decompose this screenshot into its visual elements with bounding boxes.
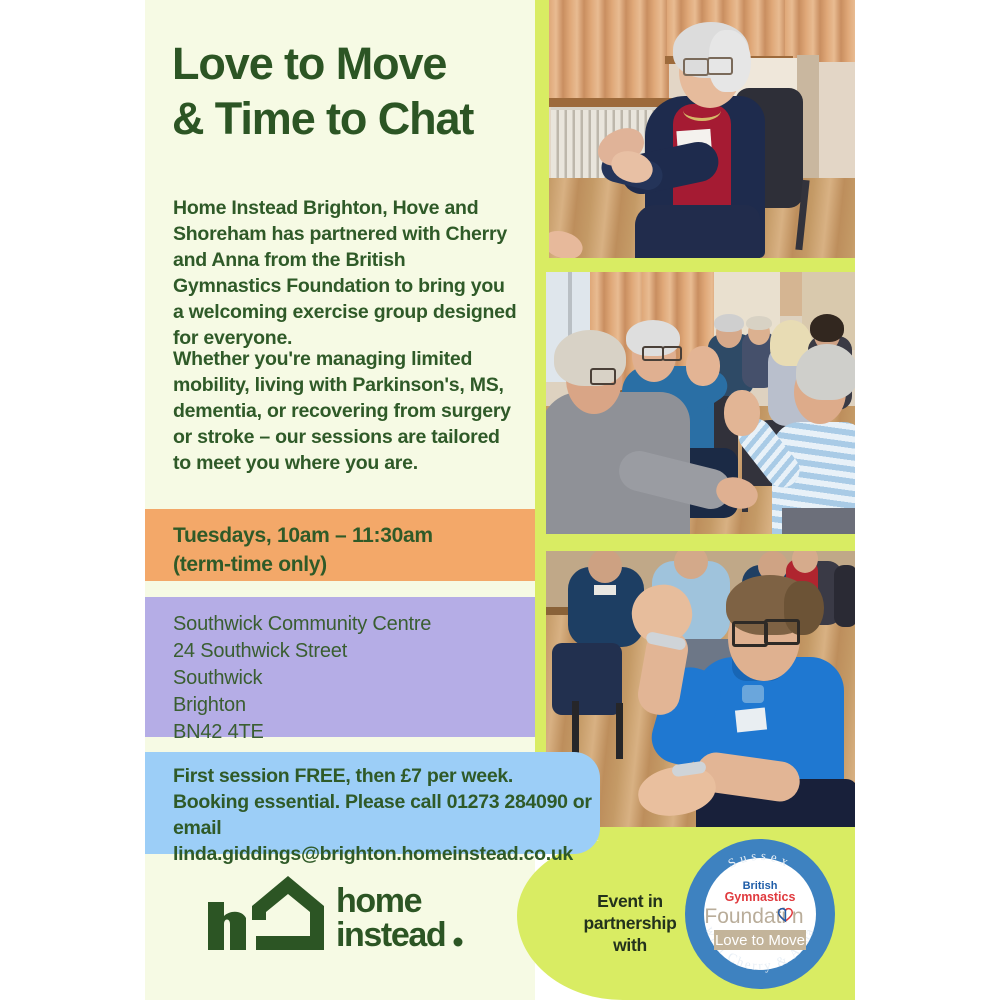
venue-street: 24 Southwick Street: [173, 640, 347, 662]
intro-paragraph: Home Instead Brighton, Hove and Shoreham…: [173, 196, 518, 352]
schedule-line-2: (term-time only): [173, 553, 327, 576]
page-title: Love to Move & Time to Chat: [172, 37, 532, 147]
white-right-margin: [855, 0, 1000, 1000]
home-instead-logo: home instead: [200, 872, 470, 954]
photo-older-woman-exercising: [549, 0, 855, 258]
title-line-2: & Time to Chat: [172, 92, 532, 147]
schedule-text: Tuesdays, 10am – 11:30am (term-time only…: [173, 522, 523, 579]
logo-word-instead: instead: [336, 916, 445, 954]
logo-word-home: home: [336, 882, 422, 920]
venue-city: Brighton: [173, 694, 246, 716]
schedule-line-1: Tuesdays, 10am – 11:30am: [173, 524, 433, 547]
booking-banner: First session FREE, then £7 per week. Bo…: [145, 752, 600, 854]
badge-brand-gymnastics: Gymnastics: [725, 890, 796, 904]
venue-address: Southwick Community Centre 24 Southwick …: [173, 611, 523, 746]
inclusivity-paragraph: Whether you're managing limited mobility…: [173, 347, 518, 477]
partnership-line-2: partnership: [584, 913, 677, 933]
title-line-1: Love to Move: [172, 38, 446, 89]
british-gymnastics-foundation-badge: Sussex with Cherry & Anna British Gymnas…: [684, 838, 836, 990]
badge-tagline: Love to Move: [715, 932, 805, 949]
photo-group-exercise-circle: [546, 272, 855, 534]
partnership-line-1: Event in: [597, 891, 663, 911]
venue-area: Southwick: [173, 667, 262, 689]
house-icon: [208, 876, 324, 950]
venue-postcode: BN42 4TE: [173, 721, 264, 743]
venue-name: Southwick Community Centre: [173, 613, 431, 635]
poster: Love to Move & Time to Chat Home Instead…: [0, 0, 1000, 1000]
partnership-line-3: with: [613, 935, 647, 955]
partnership-label: Event in partnership with: [560, 890, 700, 956]
schedule-banner: Tuesdays, 10am – 11:30am (term-time only…: [145, 509, 535, 581]
booking-text: First session FREE, then £7 per week. Bo…: [173, 764, 593, 868]
venue-banner: Southwick Community Centre 24 Southwick …: [145, 597, 535, 737]
logo-period: [454, 938, 463, 947]
